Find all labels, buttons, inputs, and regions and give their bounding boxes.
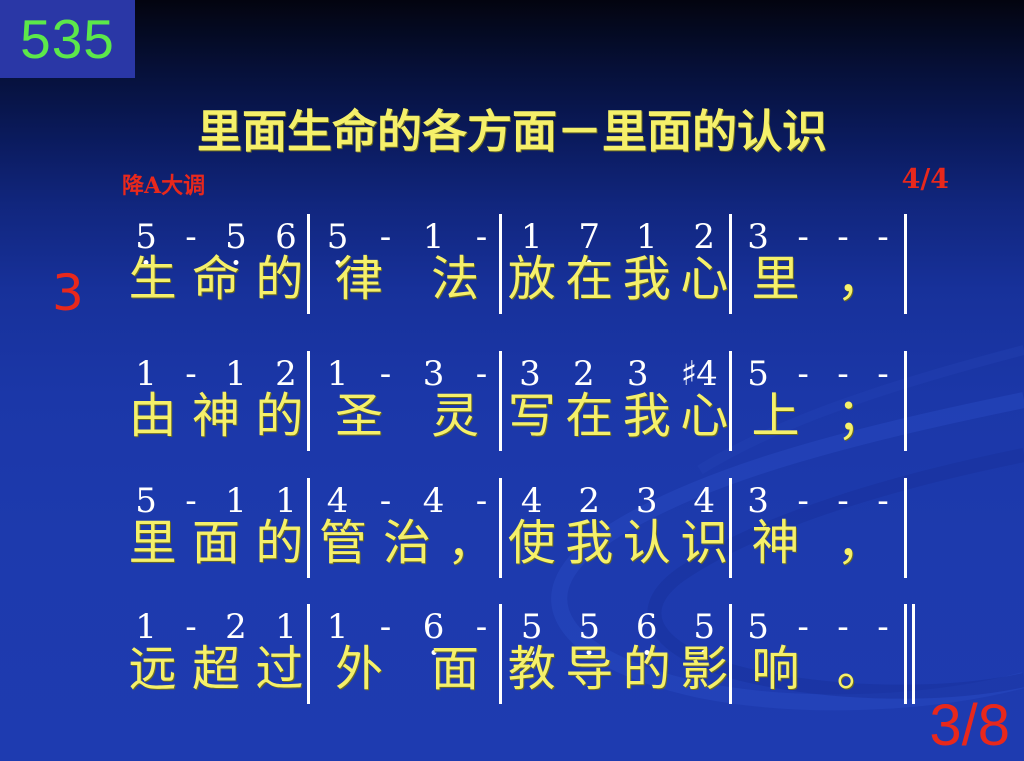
stave-line-1: 5-565-1-17123---生命的律法放在我心里， [0, 208, 1024, 320]
note-sustain-dash: - [380, 220, 392, 254]
note-number: 2 [578, 484, 600, 518]
lyric-char: 圣 [335, 391, 383, 443]
lyric-char: ， [447, 518, 495, 570]
measure-lyrics: 由神的 [121, 391, 311, 457]
lyric-char: 命 [192, 254, 240, 306]
note-number: 4 [521, 484, 543, 518]
note-sustain-dash: - [877, 610, 889, 644]
measure-lyrics: 外面 [311, 644, 503, 710]
lyric-char: 治 [383, 518, 431, 570]
measure-lyrics: 管治， [311, 518, 503, 584]
lyric-char: 心 [680, 254, 728, 306]
slide-number-badge: 535 [0, 0, 135, 78]
measure-notes: 1712 [503, 208, 733, 254]
lyric-row: 远超过外面教导的影响。 [0, 644, 1024, 710]
note-number: 1 [275, 484, 297, 518]
lyric-char: 放 [508, 254, 556, 306]
lyric-char: 里 [129, 518, 177, 570]
lyric-char: 的 [255, 391, 303, 443]
measure-notes: 5--- [733, 598, 903, 644]
notation-row: 1-211-6-55655--- [0, 598, 1024, 644]
lyric-char: 外 [335, 644, 383, 696]
measure-lyrics: 教导的影 [503, 644, 733, 710]
lyric-char: 我 [565, 518, 613, 570]
notation-row: 5-565-1-17123--- [0, 208, 1024, 254]
note-sustain-dash: - [380, 610, 392, 644]
final-double-barline [904, 604, 907, 704]
lyric-char: 的 [255, 254, 303, 306]
note-number: 7 [578, 220, 600, 254]
note-number: 6 [275, 220, 297, 254]
measure-notes: 1-6- [311, 598, 503, 644]
measure-lyrics: 圣灵 [311, 391, 503, 457]
note-number: 3 [627, 357, 649, 391]
measure-notes: 5-11 [121, 472, 311, 518]
lyric-char: 的 [255, 518, 303, 570]
page-indicator: 3/8 [929, 697, 1010, 755]
lyric-row: 生命的律法放在我心里， [0, 254, 1024, 320]
lyric-char: 影 [680, 644, 728, 696]
note-sustain-dash: - [877, 357, 889, 391]
measure-lyrics: 里， [733, 254, 903, 320]
note-number: 2 [225, 610, 247, 644]
lyric-char: 响 [751, 644, 799, 696]
note-number: 5 [578, 610, 600, 644]
lyric-char: 面 [192, 518, 240, 570]
stave-line-2: 1-121-3-323♯45---由神的圣灵写在我心上； [0, 345, 1024, 457]
stave-line-3: 5-114-4-42343---里面的管治，使我认识神， [0, 472, 1024, 584]
note-sustain-dash: - [877, 484, 889, 518]
note-number: 1 [423, 220, 445, 254]
slide-number: 535 [20, 12, 115, 67]
measure-notes: 5--- [733, 345, 903, 391]
lyric-char: 管 [319, 518, 367, 570]
measure-lyrics: 律法 [311, 254, 503, 320]
lyric-char: 。 [836, 644, 884, 696]
note-number: 3 [747, 220, 769, 254]
note-number: 5 [747, 610, 769, 644]
lyric-char: 教 [508, 644, 556, 696]
note-number: 1 [135, 610, 157, 644]
barline [904, 214, 907, 314]
note-number: 5 [135, 220, 157, 254]
note-sustain-dash: - [797, 357, 809, 391]
note-sustain-dash: - [476, 357, 488, 391]
note-number: 2 [693, 220, 715, 254]
lyric-char: 超 [192, 644, 240, 696]
note-number: 6 [423, 610, 445, 644]
barline [904, 478, 907, 578]
note-sustain-dash: - [476, 610, 488, 644]
note-sustain-dash: - [380, 357, 392, 391]
note-number: 1 [135, 357, 157, 391]
lyric-char: 在 [565, 254, 613, 306]
lyric-char: 使 [508, 518, 556, 570]
note-number: 4 [693, 484, 715, 518]
note-sustain-dash: - [797, 610, 809, 644]
note-sustain-dash: - [476, 484, 488, 518]
barline [904, 351, 907, 451]
measure-lyrics: 写在我心 [503, 391, 733, 457]
lyric-char: 律 [335, 254, 383, 306]
lyric-char: 上 [751, 391, 799, 443]
note-sustain-dash: - [797, 484, 809, 518]
note-number: 6 [636, 610, 658, 644]
measure-notes: 1-21 [121, 598, 311, 644]
measure-lyrics: 响。 [733, 644, 903, 710]
key-signature: 降A大调 [122, 168, 205, 200]
note-number: 3 [423, 357, 445, 391]
note-number: 3 [519, 357, 541, 391]
lyric-char: 我 [623, 391, 671, 443]
note-sustain-dash: - [837, 610, 849, 644]
measure-lyrics: 放在我心 [503, 254, 733, 320]
note-sustain-dash: - [380, 484, 392, 518]
lyric-char: ， [836, 254, 884, 306]
measure-notes: 4-4- [311, 472, 503, 518]
note-sustain-dash: - [185, 610, 197, 644]
measure-lyrics: 神， [733, 518, 903, 584]
notation-row: 5-114-4-42343--- [0, 472, 1024, 518]
measure-notes: 5-1- [311, 208, 503, 254]
lyric-row: 由神的圣灵写在我心上； [0, 391, 1024, 457]
measure-notes: 3--- [733, 472, 903, 518]
hymn-slide: 535 里面生命的各方面－里面的认识 降A大调 4/4 3 5-565-1-17… [0, 0, 1024, 761]
measure-notes: 4234 [503, 472, 733, 518]
measure-lyrics: 远超过 [121, 644, 311, 710]
lyric-char: 面 [431, 644, 479, 696]
note-sustain-dash: - [837, 484, 849, 518]
note-sustain-dash: - [837, 357, 849, 391]
note-sustain-dash: - [185, 357, 197, 391]
measure-lyrics: 上； [733, 391, 903, 457]
lyric-char: 导 [565, 644, 613, 696]
lyric-char: 认 [623, 518, 671, 570]
lyric-char: 神 [751, 518, 799, 570]
lyric-char: 在 [565, 391, 613, 443]
lyric-char: 由 [129, 391, 177, 443]
lyric-char: 我 [623, 254, 671, 306]
lyric-char: 过 [255, 644, 303, 696]
note-number: 1 [225, 357, 247, 391]
note-sustain-dash: - [185, 220, 197, 254]
lyric-char: 远 [129, 644, 177, 696]
lyric-char: 生 [129, 254, 177, 306]
note-number: 1 [275, 610, 297, 644]
lyric-char: 识 [680, 518, 728, 570]
lyric-char: 心 [680, 391, 728, 443]
note-sustain-dash: - [877, 220, 889, 254]
lyric-char: ， [836, 518, 884, 570]
page-title: 里面生命的各方面－里面的认识 [0, 95, 1024, 160]
note-sustain-dash: - [797, 220, 809, 254]
note-number: 5 [225, 220, 247, 254]
measure-notes: 1-12 [121, 345, 311, 391]
measure-notes: 5565 [503, 598, 733, 644]
lyric-char: 神 [192, 391, 240, 443]
lyric-char: 灵 [431, 391, 479, 443]
time-signature: 4/4 [902, 164, 949, 195]
note-number: 4 [327, 484, 349, 518]
measure-lyrics: 使我认识 [503, 518, 733, 584]
note-number: 5 [135, 484, 157, 518]
notation-row: 1-121-3-323♯45--- [0, 345, 1024, 391]
note-number: 5 [747, 357, 769, 391]
note-sustain-dash: - [476, 220, 488, 254]
note-number: 1 [225, 484, 247, 518]
measure-lyrics: 里面的 [121, 518, 311, 584]
note-number: 5 [693, 610, 715, 644]
note-number: 1 [327, 610, 349, 644]
lyric-char: 写 [508, 391, 556, 443]
note-number: 2 [573, 357, 595, 391]
measure-notes: 323♯4 [503, 345, 733, 391]
lyric-char: 法 [431, 254, 479, 306]
lyric-row: 里面的管治，使我认识神， [0, 518, 1024, 584]
note-number: ♯4 [681, 357, 717, 391]
measure-notes: 3--- [733, 208, 903, 254]
note-number: 5 [327, 220, 349, 254]
note-number: 5 [521, 610, 543, 644]
measure-notes: 1-3- [311, 345, 503, 391]
lyric-char: 的 [623, 644, 671, 696]
measure-lyrics: 生命的 [121, 254, 311, 320]
note-sustain-dash: - [185, 484, 197, 518]
measure-notes: 5-56 [121, 208, 311, 254]
note-number: 3 [636, 484, 658, 518]
note-number: 3 [747, 484, 769, 518]
note-number: 1 [521, 220, 543, 254]
lyric-char: ； [836, 391, 884, 443]
note-number: 1 [327, 357, 349, 391]
note-number: 2 [275, 357, 297, 391]
lyric-char: 里 [751, 254, 799, 306]
stave-line-4: 1-211-6-55655---远超过外面教导的影响。 [0, 598, 1024, 710]
note-number: 1 [636, 220, 658, 254]
note-sustain-dash: - [837, 220, 849, 254]
note-number: 4 [423, 484, 445, 518]
